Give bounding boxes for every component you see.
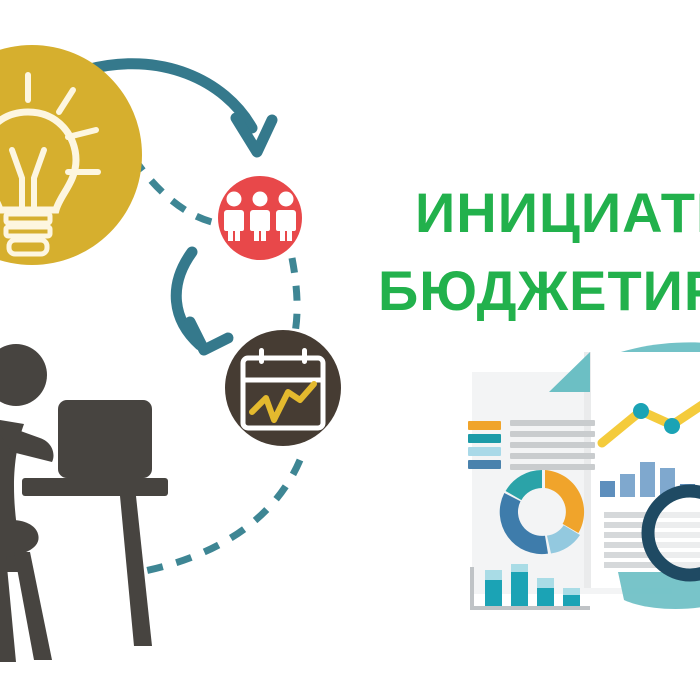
line-chart-marker <box>664 418 680 434</box>
node-people <box>218 176 302 260</box>
poster-artwork <box>0 0 700 700</box>
legend-swatch-teal <box>468 434 501 443</box>
node-idea <box>0 45 142 265</box>
mini-bar-fill <box>537 588 554 606</box>
worker-chair <box>0 560 26 572</box>
desk-leg <box>120 496 152 646</box>
node-plan <box>225 330 341 446</box>
magnifier-icon <box>648 491 700 575</box>
mini-bar-fill <box>485 580 502 606</box>
legend-swatch-lightblue <box>468 447 501 456</box>
node-worker <box>0 344 168 672</box>
dashed-connector-plan-worker <box>140 460 300 572</box>
mini-bar-fill <box>511 572 528 606</box>
mini-bar-fill <box>563 595 580 606</box>
desk-top <box>22 478 168 496</box>
cycle-diagram <box>0 45 467 672</box>
legend-swatch-steelblue <box>468 460 501 469</box>
idea-circle <box>0 45 142 265</box>
column-bar <box>600 481 615 497</box>
mini-chart-y-axis <box>470 567 474 610</box>
infographic-cluster <box>468 342 700 610</box>
legend-swatch-orange <box>468 421 501 430</box>
column-bar <box>640 462 655 497</box>
poster-canvas: ИНИЦИАТИВНОЕ БЮДЖЕТИРОВАНИЕ <box>0 0 700 700</box>
laptop-screen <box>58 400 152 478</box>
worker-head <box>0 344 47 406</box>
column-bar <box>620 474 635 497</box>
arrow-people-to-plan <box>176 252 228 350</box>
mini-chart-x-axis <box>470 606 590 610</box>
line-chart-marker <box>633 403 649 419</box>
